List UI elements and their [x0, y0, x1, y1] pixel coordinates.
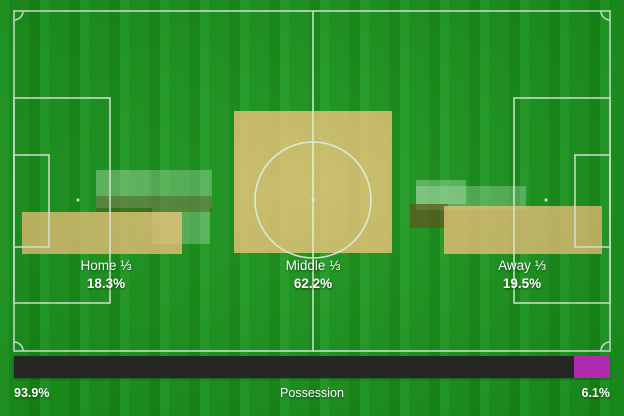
possession-bar [14, 356, 610, 378]
third-label-middle: Middle ⅓ 62.2% [253, 258, 373, 291]
third-label-away: Away ⅓ 19.5% [462, 258, 582, 291]
third-label-home: Home ⅓ 18.3% [46, 258, 166, 291]
third-label-middle-name: Middle ⅓ [253, 258, 373, 274]
possession-caption-row: 93.9% Possession 6.1% [14, 384, 610, 402]
possession-caption: Possession [14, 386, 610, 400]
third-label-middle-percent: 62.2% [253, 276, 373, 292]
pitch-turf [0, 0, 624, 416]
possession-bar-home-segment [14, 356, 574, 378]
third-label-away-percent: 19.5% [462, 276, 582, 292]
third-label-home-name: Home ⅓ [46, 258, 166, 274]
third-label-away-name: Away ⅓ [462, 258, 582, 274]
third-label-home-percent: 18.3% [46, 276, 166, 292]
possession-territory-graphic: Home ⅓ 18.3% Middle ⅓ 62.2% Away ⅓ 19.5%… [0, 0, 624, 416]
possession-bar-away-segment [574, 356, 610, 378]
